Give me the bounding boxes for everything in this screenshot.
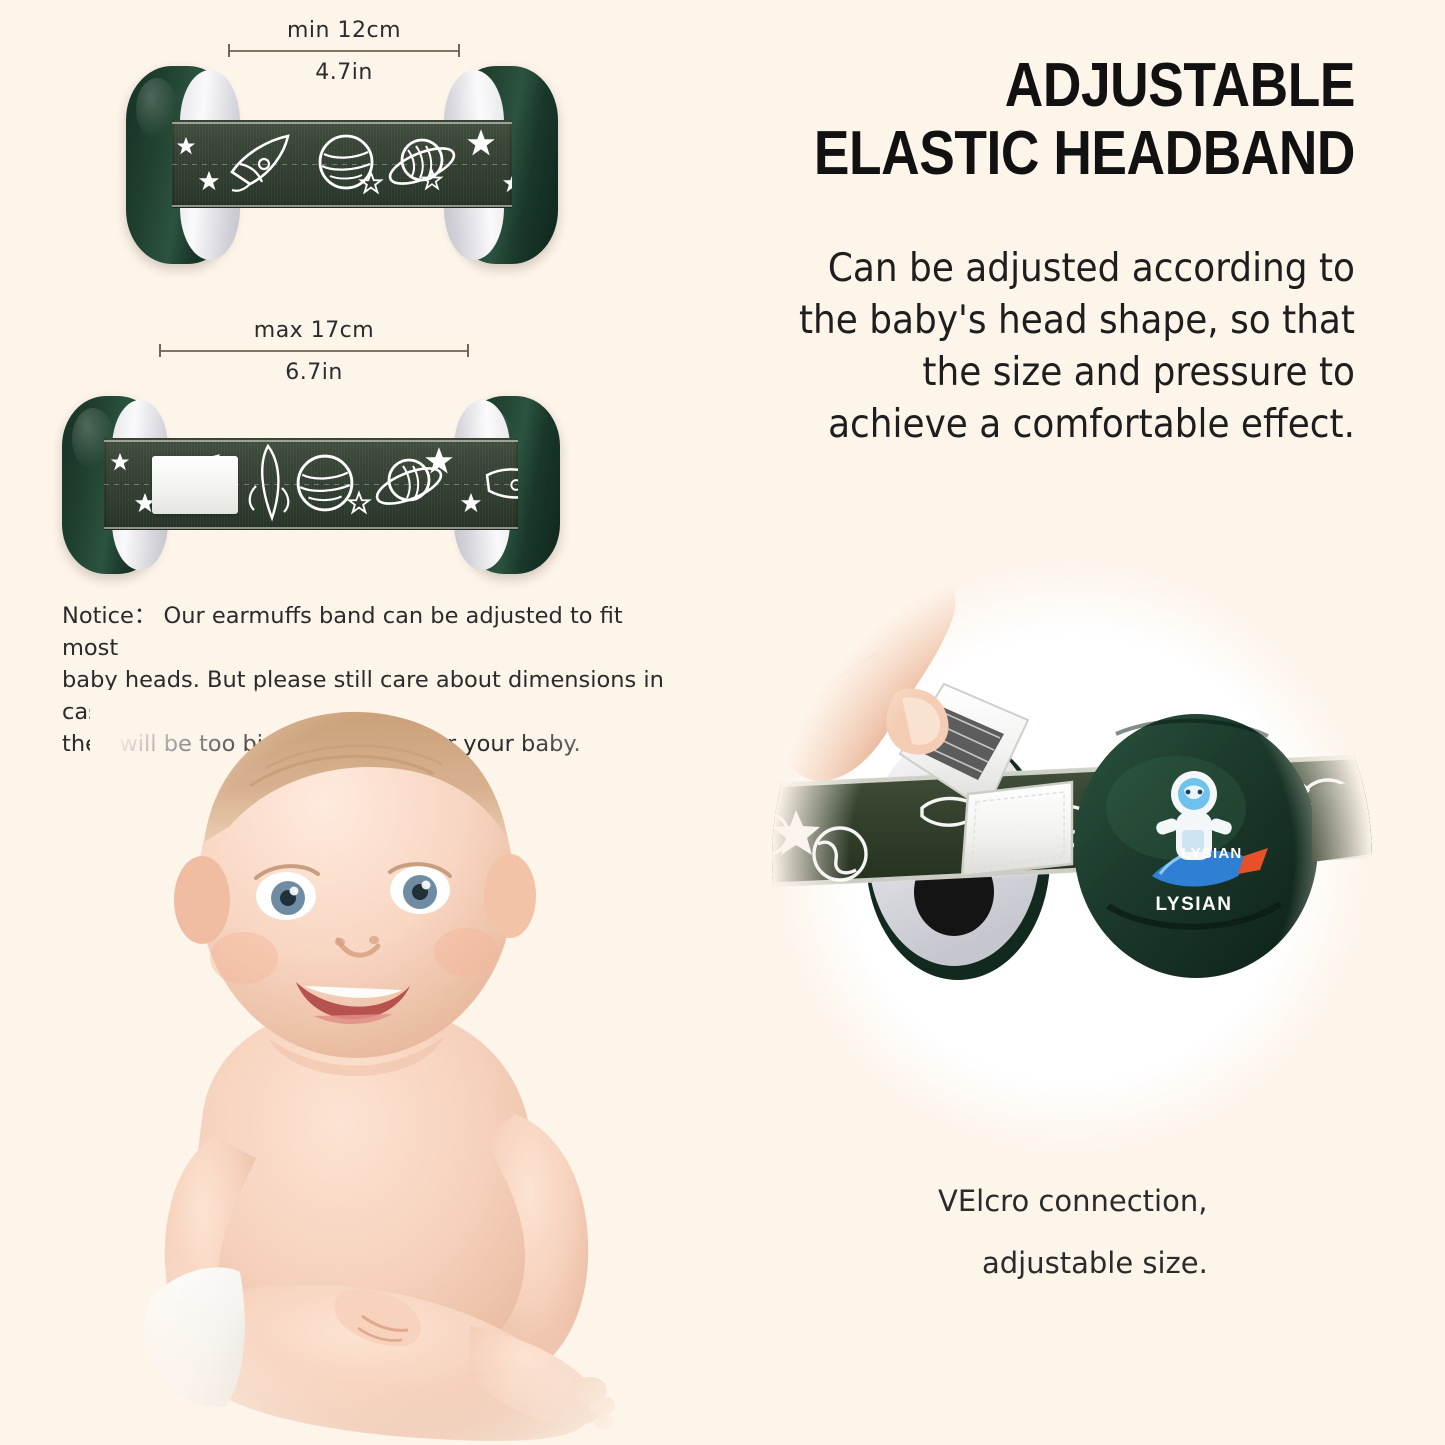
baby-photo bbox=[90, 690, 710, 1445]
band-motif-star-icon bbox=[176, 136, 196, 156]
page-title-line-1: ADJUSTABLE bbox=[753, 52, 1355, 120]
band-motif-star-icon bbox=[348, 492, 370, 514]
brand-name-label: LYSIAN bbox=[1152, 845, 1272, 862]
baby-illustration bbox=[90, 690, 710, 1445]
dimension-tick-right bbox=[458, 44, 460, 57]
velcro-caption: VElcro connection, adjustable size. bbox=[938, 1170, 1358, 1294]
description-line-3: the size and pressure to bbox=[729, 347, 1355, 399]
product-infographic-page: min 12cm 4.7in bbox=[0, 0, 1445, 1445]
dimension-min-metric-label: min 12cm bbox=[228, 18, 460, 44]
page-title-line-2: ELASTIC HEADBAND bbox=[753, 120, 1355, 188]
description-line-4: achieve a comfortable effect. bbox=[729, 399, 1355, 451]
earmuffs-product-min bbox=[126, 66, 558, 264]
description-text-block: Can be adjusted according to the baby's … bbox=[675, 243, 1355, 451]
dimension-max-metric-label: max 17cm bbox=[159, 318, 469, 344]
caption-line-1: VElcro connection, bbox=[938, 1170, 1358, 1232]
dimension-max-line bbox=[159, 344, 469, 357]
earmuffs-product-max bbox=[62, 396, 560, 576]
page-title: ADJUSTABLE ELASTIC HEADBAND bbox=[655, 52, 1355, 188]
dimension-min-line bbox=[228, 44, 460, 57]
velcro-closeup-photo: LYSIAN bbox=[772, 558, 1372, 1158]
band-edge-top bbox=[104, 440, 518, 442]
elastic-headband bbox=[172, 120, 512, 208]
caption-line-2: adjustable size. bbox=[938, 1232, 1358, 1294]
band-edge-bottom bbox=[172, 205, 512, 207]
band-motif-rocket-icon bbox=[224, 130, 296, 198]
description-line-2: the baby's head shape, so that bbox=[729, 295, 1355, 347]
band-motif-star-icon bbox=[424, 446, 454, 476]
description-line-1: Can be adjusted according to bbox=[729, 243, 1355, 295]
band-motif-rocket-icon bbox=[242, 442, 294, 528]
dimension-max-imperial-label: 6.7in bbox=[159, 357, 469, 387]
dimension-rule bbox=[228, 50, 460, 52]
band-motif-star-icon bbox=[360, 172, 382, 194]
velcro-patch bbox=[152, 456, 238, 514]
band-motif-star-icon bbox=[422, 170, 442, 190]
dimension-rule bbox=[159, 350, 469, 352]
velcro-closeup-illustration: LYSIAN bbox=[772, 558, 1372, 1158]
band-edge-top bbox=[172, 122, 512, 124]
band-motif-star-icon bbox=[460, 492, 482, 514]
elastic-headband-extended bbox=[104, 438, 518, 530]
dimension-tick-left bbox=[159, 344, 161, 357]
band-motif-star-icon bbox=[110, 452, 130, 472]
notice-line-1: Notice： Our earmuffs band can be adjuste… bbox=[62, 600, 672, 664]
dimension-tick-right bbox=[467, 344, 469, 357]
dimension-tick-left bbox=[228, 44, 230, 57]
band-motif-rocket-icon bbox=[480, 452, 518, 516]
band-edge-bottom bbox=[104, 527, 518, 529]
photo-edge-fade bbox=[90, 690, 710, 1445]
band-motif-planet-icon bbox=[294, 452, 356, 514]
band-motif-star-icon bbox=[198, 170, 220, 192]
photo-edge-fade bbox=[772, 558, 1372, 1158]
band-motif-star-icon bbox=[466, 128, 496, 158]
dimension-callout-max: max 17cm 6.7in bbox=[159, 318, 469, 387]
band-motif-star-icon bbox=[502, 172, 512, 194]
